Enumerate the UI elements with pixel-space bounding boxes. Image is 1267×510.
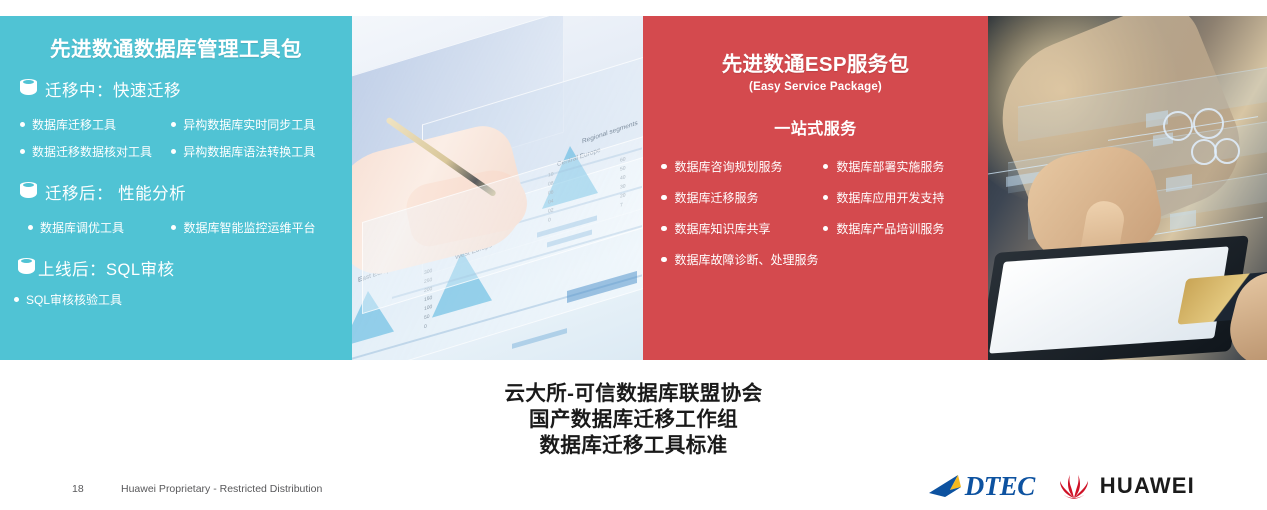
photo-hud-ring (1163, 111, 1193, 141)
photo-hud-ring (1193, 108, 1224, 139)
cyan-section-label-2: 迁移后： 性能分析 (45, 180, 186, 204)
bullet-icon (14, 297, 19, 302)
page-number: 18 (72, 483, 84, 495)
red-panel: 先进数通ESP服务包 (Easy Service Package) 一站式服务 … (643, 16, 988, 360)
cyan-panel: 先进数通数据库管理工具包 迁移中：快速迁移 数据库迁移工具 异构数据库实时同步工… (0, 16, 352, 360)
cyan-section-items-2: 数据库调优工具 数据库智能监控运维平台 (10, 214, 342, 241)
bullet-icon (20, 149, 25, 154)
list-item: SQL审核核验工具 (14, 291, 176, 308)
photo-bar (512, 328, 567, 349)
list-item: 数据库迁移工具 (20, 116, 171, 133)
bottom-title-line-1: 云大所-可信数据库联盟协会 (0, 381, 1267, 407)
list-row: 数据库故障诊断、处理服务 (653, 244, 978, 275)
footer-confidentiality-note: Huawei Proprietary - Restricted Distribu… (121, 483, 322, 495)
cyan-section-items-1: 数据库迁移工具 异构数据库实时同步工具 数据迁移数据核对工具 异构数据库语法转换… (10, 111, 342, 165)
cyan-section-items-3: SQL审核核验工具 (10, 286, 342, 313)
red-panel-subtitle: (Easy Service Package) (653, 81, 978, 93)
list-item-label: 数据库知识库共享 (675, 220, 771, 237)
cyan-section-header-3: 上线后：SQL审核 (18, 256, 342, 280)
bullet-icon (20, 122, 25, 127)
bullet-icon (823, 195, 829, 201)
list-row: 数据库咨询规划服务 数据库部署实施服务 (653, 151, 978, 182)
list-item: 数据库应用开发支持 (823, 189, 978, 206)
database-icon (20, 79, 37, 99)
list-item: 异构数据库实时同步工具 (171, 116, 342, 133)
list-row: 数据库知识库共享 数据库产品培训服务 (653, 213, 978, 244)
cyan-section-label-1: 迁移中：快速迁移 (45, 77, 181, 101)
list-row: 数据库迁移服务 数据库应用开发支持 (653, 182, 978, 213)
list-item: 数据库咨询规划服务 (661, 158, 823, 175)
list-item-label: 数据库咨询规划服务 (675, 158, 783, 175)
database-icon (20, 182, 37, 202)
cyan-panel-title: 先进数通数据库管理工具包 (10, 39, 342, 62)
bullet-icon (28, 225, 33, 230)
list-item-label: 数据库部署实施服务 (836, 158, 944, 175)
dtec-wordmark: DTEC (965, 473, 1035, 500)
bullet-icon (823, 226, 829, 232)
bullet-icon (171, 149, 176, 154)
list-item-label: 数据库智能监控运维平台 (183, 219, 315, 236)
list-item: 数据迁移数据核对工具 (20, 143, 171, 160)
list-item-label: 数据迁移数据核对工具 (32, 143, 152, 160)
list-item-label: 数据库调优工具 (40, 219, 124, 236)
huawei-logo: HUAWEI (1057, 473, 1195, 500)
list-item-label: 数据库迁移工具 (32, 116, 116, 133)
photo-hud-ring (1214, 138, 1240, 164)
bullet-icon (661, 257, 667, 263)
list-item-label: 数据库迁移服务 (675, 189, 759, 206)
huawei-wordmark: HUAWEI (1100, 475, 1195, 497)
red-panel-title: 先进数通ESP服务包 (653, 47, 978, 77)
list-item: 数据库智能监控运维平台 (171, 219, 342, 236)
bullet-icon (661, 226, 667, 232)
bullet-icon (823, 164, 829, 170)
list-item: 数据库产品培训服务 (823, 220, 978, 237)
bottom-title-line-2: 国产数据库迁移工作组 (0, 407, 1267, 433)
list-row: SQL审核核验工具 (10, 286, 342, 313)
red-panel-items: 数据库咨询规划服务 数据库部署实施服务 数据库迁移服务 数据库应用开发支持 数据… (653, 151, 978, 275)
list-item-label: 异构数据库实时同步工具 (183, 116, 315, 133)
bullet-icon (661, 195, 667, 201)
list-item: 数据库知识库共享 (661, 220, 823, 237)
huawei-flower-icon (1057, 473, 1091, 500)
list-item-label: 数据库应用开发支持 (836, 189, 944, 206)
list-item: 数据库部署实施服务 (823, 158, 978, 175)
list-item: 数据库故障诊断、处理服务 (661, 251, 819, 268)
list-item-label: 数据库产品培训服务 (836, 220, 944, 237)
database-icon (18, 258, 35, 278)
middle-photo: 10080604020 300250200150100500 605040302… (352, 16, 643, 360)
list-item-label: 异构数据库语法转换工具 (183, 143, 315, 160)
right-photo (988, 16, 1267, 360)
slide-canvas: 先进数通数据库管理工具包 迁移中：快速迁移 数据库迁移工具 异构数据库实时同步工… (0, 0, 1267, 510)
list-row: 数据库调优工具 数据库智能监控运维平台 (10, 214, 342, 241)
bottom-title: 云大所-可信数据库联盟协会 国产数据库迁移工作组 数据库迁移工具标准 (0, 381, 1267, 459)
cyan-section-label-3: 上线后：SQL审核 (38, 256, 175, 280)
list-item-label: SQL审核核验工具 (26, 291, 122, 308)
bottom-title-line-3: 数据库迁移工具标准 (0, 433, 1267, 459)
list-item: 数据库迁移服务 (661, 189, 823, 206)
list-item-label: 数据库故障诊断、处理服务 (675, 251, 819, 268)
dtec-logo: DTEC (928, 473, 1035, 500)
list-row: 数据库迁移工具 异构数据库实时同步工具 (10, 111, 342, 138)
cyan-section-header-2: 迁移后： 性能分析 (20, 180, 342, 204)
logo-group: DTEC HUAWEI (928, 469, 1195, 503)
bullet-icon (171, 225, 176, 230)
bullet-icon (661, 164, 667, 170)
banner-strip: 先进数通数据库管理工具包 迁移中：快速迁移 数据库迁移工具 异构数据库实时同步工… (0, 16, 1267, 360)
list-item: 异构数据库语法转换工具 (171, 143, 342, 160)
list-item: 数据库调优工具 (28, 219, 171, 236)
bullet-icon (171, 122, 176, 127)
red-panel-heading: 一站式服务 (653, 115, 978, 139)
dtec-arrow-icon (928, 473, 964, 499)
cyan-section-header-1: 迁移中：快速迁移 (20, 77, 342, 101)
list-row: 数据迁移数据核对工具 异构数据库语法转换工具 (10, 138, 342, 165)
